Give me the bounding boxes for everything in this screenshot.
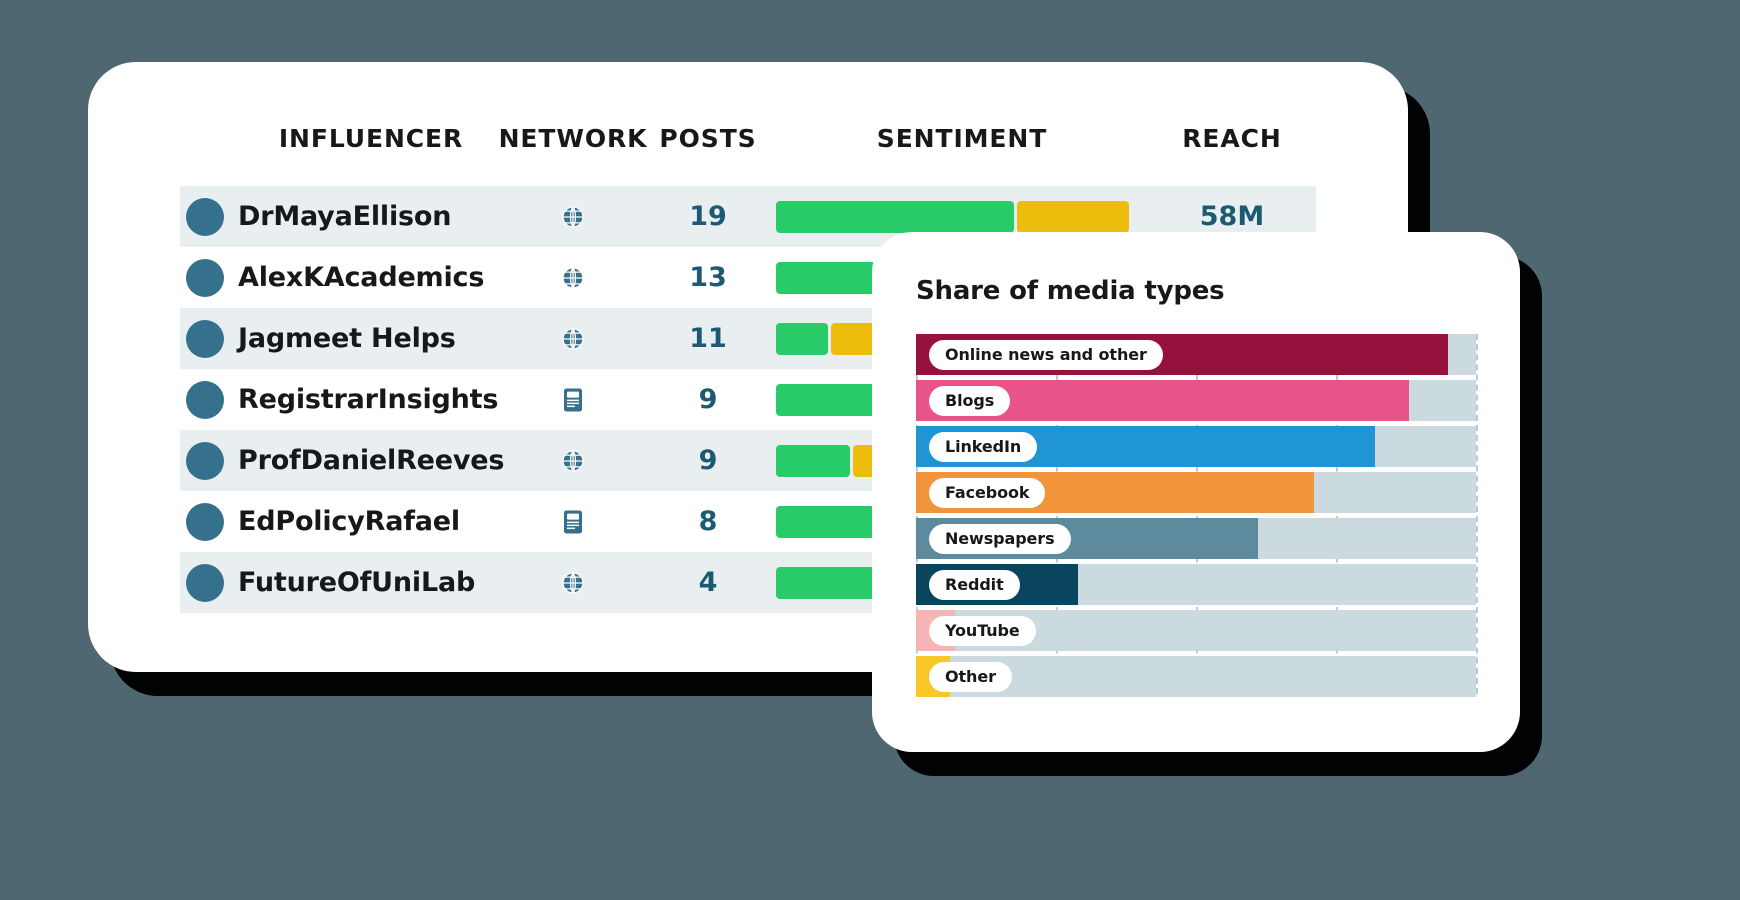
chart-bar-row[interactable]: LinkedIn [916,426,1476,467]
network-cell [498,430,648,491]
chart-bar-label: YouTube [929,616,1036,646]
posts-count: 4 [648,552,768,613]
network-cell [498,369,648,430]
avatar-circle-icon [186,564,224,602]
avatar-cell [180,247,238,308]
chart-bar-label: Reddit [929,570,1020,600]
chart-bar-label: Online news and other [929,340,1163,370]
influencer-name[interactable]: DrMayaEllison [238,186,498,247]
globe-icon [560,265,586,291]
influencer-name[interactable]: FutureOfUniLab [238,552,498,613]
chart-bar-label: Blogs [929,386,1010,416]
avatar-cell [180,186,238,247]
column-header-network[interactable]: NETWORK [498,124,648,186]
network-cell [498,186,648,247]
chart-bar-label: LinkedIn [929,432,1037,462]
globe-icon [560,570,586,596]
chart-bar-label: Newspapers [929,524,1071,554]
avatar-circle-icon [186,198,224,236]
column-header-posts[interactable]: POSTS [648,124,768,186]
globe-icon [560,204,586,230]
newspaper-icon [561,509,585,535]
column-header-sentiment[interactable]: SENTIMENT [768,124,1148,186]
avatar-circle-icon [186,442,224,480]
chart-bar-row[interactable]: Facebook [916,472,1476,513]
influencer-name[interactable]: EdPolicyRafael [238,491,498,552]
network-cell [498,552,648,613]
avatar-cell [180,308,238,369]
influencer-name[interactable]: ProfDanielReeves [238,430,498,491]
chart-bar-row[interactable]: YouTube [916,610,1476,651]
network-cell [498,491,648,552]
avatar-circle-icon [186,259,224,297]
globe-icon [560,326,586,352]
influencer-name[interactable]: AlexKAcademics [238,247,498,308]
chart-bar-row[interactable]: Reddit [916,564,1476,605]
sentiment-bar [776,201,1148,233]
avatar-circle-icon [186,503,224,541]
chart-bar-row[interactable]: Online news and other [916,334,1476,375]
posts-count: 9 [648,369,768,430]
network-cell [498,308,648,369]
avatar-cell [180,491,238,552]
chart-bar-rows: Online news and otherBlogsLinkedInFacebo… [916,334,1476,697]
avatar-cell [180,552,238,613]
avatar-circle-icon [186,381,224,419]
chart-bar-label: Other [929,662,1012,692]
network-cell [498,247,648,308]
posts-count: 8 [648,491,768,552]
media-card-title: Share of media types [916,276,1476,306]
globe-icon [560,448,586,474]
screenshot-stage: INFLUENCER NETWORK POSTS SENTIMENT REACH… [0,0,1740,900]
chart-bar-label: Facebook [929,478,1045,508]
chart-bar-row[interactable]: Blogs [916,380,1476,421]
avatar-circle-icon [186,320,224,358]
newspaper-icon [561,387,585,413]
media-card-inner: Share of media types Online news and oth… [872,232,1520,752]
posts-count: 11 [648,308,768,369]
influencer-name[interactable]: RegistrarInsights [238,369,498,430]
posts-count: 9 [648,430,768,491]
posts-count: 19 [648,186,768,247]
table-header-row: INFLUENCER NETWORK POSTS SENTIMENT REACH [180,124,1316,186]
chart-bar-row[interactable]: Newspapers [916,518,1476,559]
table-header: INFLUENCER NETWORK POSTS SENTIMENT REACH [180,124,1316,186]
avatar-cell [180,430,238,491]
chart-bar-row[interactable]: Other [916,656,1476,697]
sentiment-neutral-segment [1017,201,1129,233]
influencer-name[interactable]: Jagmeet Helps [238,308,498,369]
sentiment-positive-segment [776,323,828,355]
column-header-influencer[interactable]: INFLUENCER [238,124,498,186]
sentiment-positive-segment [776,201,1014,233]
column-header-reach[interactable]: REACH [1148,124,1316,186]
avatar-cell [180,369,238,430]
sentiment-positive-segment [776,445,850,477]
media-types-chart: Online news and otherBlogsLinkedInFacebo… [916,334,1476,704]
chart-gridline [1476,334,1478,694]
posts-count: 13 [648,247,768,308]
column-header-avatar [180,124,238,186]
share-of-media-types-card: Share of media types Online news and oth… [872,232,1520,752]
